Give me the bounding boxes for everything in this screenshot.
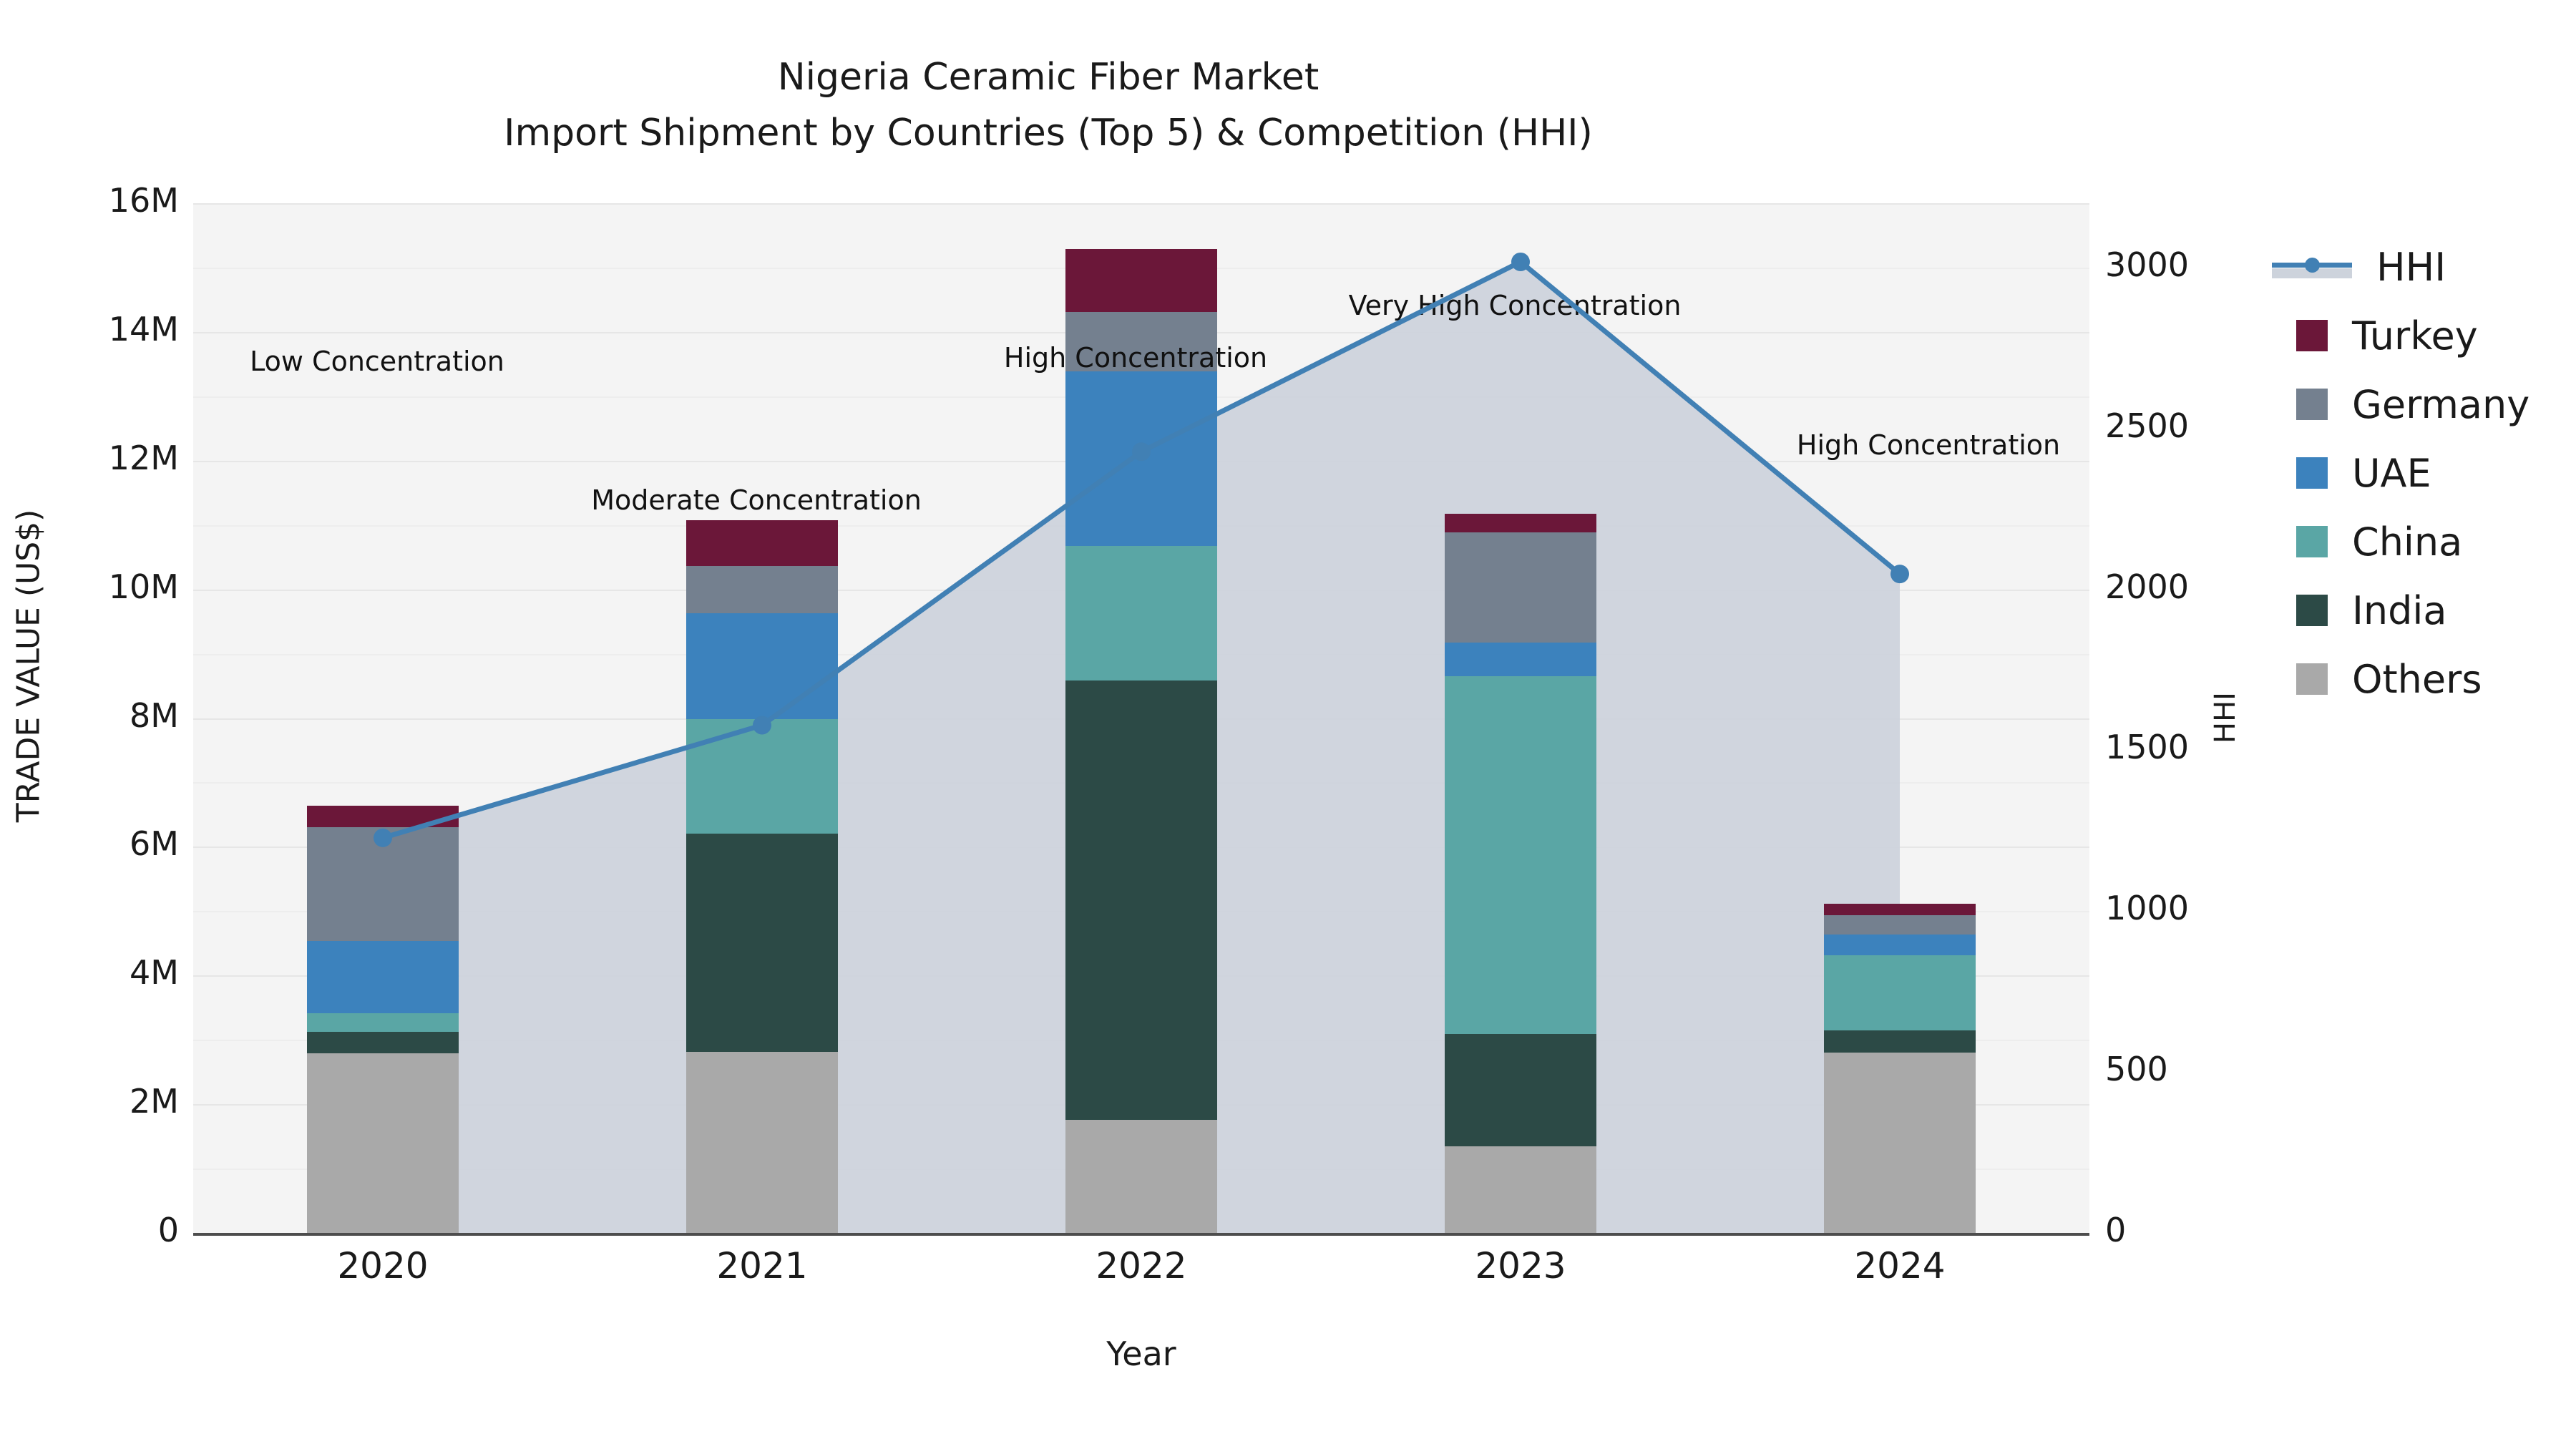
bar-segment-uae[interactable] [307,941,459,1013]
legend-item-label: China [2352,519,2462,565]
bar-segment-uae[interactable] [1824,935,1976,955]
legend-item-label: HHI [2376,245,2446,290]
x-axis-title: Year [193,1335,2089,1373]
y-axis-right-tick-label: 500 [2105,1050,2168,1088]
legend-item-label: Turkey [2352,313,2478,358]
legend-color-swatch [2296,320,2328,351]
bar-segment-germany[interactable] [686,566,838,613]
legend-color-swatch [2296,526,2328,557]
stacked-bar[interactable] [686,204,838,1234]
bar-segment-uae[interactable] [1445,643,1596,676]
legend-item-label: Others [2352,657,2482,702]
legend-item-germany[interactable]: Germany [2272,370,2529,439]
x-axis-tick-label: 2024 [1792,1245,2007,1287]
bar-segment-india[interactable] [686,834,838,1053]
bar-segment-others[interactable] [1445,1146,1596,1234]
legend-item-label: India [2352,588,2447,633]
y-axis-right-tick-label: 0 [2105,1211,2126,1249]
x-axis-tick-label: 2021 [655,1245,869,1287]
y-axis-right-tick-label: 3000 [2105,245,2189,284]
bar-segment-turkey[interactable] [1065,249,1217,312]
bar-segment-germany[interactable] [307,827,459,940]
bar-segment-india[interactable] [1445,1034,1596,1146]
legend-item-others[interactable]: Others [2272,645,2529,713]
legend-line-marker-icon [2305,258,2320,273]
annotation-label: High Concentration [1797,429,2060,461]
annotation-label: Low Concentration [250,346,504,377]
chart-root: Nigeria Ceramic Fiber Market Import Ship… [0,0,2576,1449]
legend-item-uae[interactable]: UAE [2272,439,2529,507]
legend-item-china[interactable]: China [2272,507,2529,576]
bar-segment-turkey[interactable] [1445,514,1596,532]
legend-item-label: UAE [2352,451,2431,496]
bar-segment-china[interactable] [1065,546,1217,680]
x-axis-line [193,1233,2089,1236]
y-axis-right-tick-label: 1500 [2105,728,2189,766]
legend-item-turkey[interactable]: Turkey [2272,301,2529,370]
legend-line-icon [2272,251,2352,283]
bar-segment-china[interactable] [1445,676,1596,1034]
stacked-bar[interactable] [1824,204,1976,1234]
y-axis-left-tick-label: 0 [14,1211,179,1249]
bar-segment-turkey[interactable] [307,806,459,828]
bar-segment-others[interactable] [1065,1120,1217,1234]
bar-segment-uae[interactable] [1065,371,1217,546]
bar-segment-india[interactable] [307,1032,459,1054]
bar-segment-china[interactable] [307,1013,459,1032]
x-axis-tick-label: 2020 [275,1245,490,1287]
legend-color-swatch [2296,595,2328,626]
chart-title: Nigeria Ceramic Fiber Market Import Ship… [0,50,2097,162]
annotation-label: Very High Concentration [1349,290,1682,321]
plot-area: Low ConcentrationModerate ConcentrationH… [193,204,2089,1234]
bar-segment-turkey[interactable] [686,520,838,567]
y-axis-left-tick-label: 16M [14,181,179,220]
legend-item-india[interactable]: India [2272,576,2529,645]
bar-segment-china[interactable] [1824,955,1976,1030]
bar-segment-uae[interactable] [686,613,838,719]
legend-item-label: Germany [2352,382,2529,427]
legend-item-hhi[interactable]: HHI [2272,233,2529,301]
y-axis-left-tick-label: 2M [14,1082,179,1121]
annotation-label: Moderate Concentration [591,484,922,516]
y-axis-right-tick-label: 2000 [2105,567,2189,606]
x-axis-tick-label: 2022 [1034,1245,1249,1287]
bar-segment-india[interactable] [1065,680,1217,1120]
bar-segment-others[interactable] [307,1053,459,1234]
y-axis-right-tick-label: 2500 [2105,406,2189,445]
chart-title-line-1: Nigeria Ceramic Fiber Market [0,50,2097,104]
bar-segment-china[interactable] [686,719,838,833]
y-axis-right-title: HHI [2209,575,2242,861]
x-axis-tick-label: 2023 [1413,1245,1628,1287]
y-axis-left-title: TRADE VALUE (US$) [11,308,47,1024]
legend-color-swatch [2296,457,2328,489]
chart-title-subline: Import Shipment by Countries (Top 5) & C… [0,104,2097,162]
annotation-label: High Concentration [1004,342,1267,374]
stacked-bar[interactable] [1445,204,1596,1234]
bar-segment-turkey[interactable] [1824,904,1976,915]
bar-segment-india[interactable] [1824,1030,1976,1053]
bar-segment-germany[interactable] [1824,915,1976,935]
legend: HHITurkeyGermanyUAEChinaIndiaOthers [2272,233,2529,713]
bar-segment-others[interactable] [686,1052,838,1234]
legend-color-swatch [2296,663,2328,695]
y-axis-right-tick-label: 1000 [2105,889,2189,927]
legend-color-swatch [2296,389,2328,420]
bar-segment-germany[interactable] [1445,532,1596,643]
bar-segment-others[interactable] [1824,1053,1976,1234]
